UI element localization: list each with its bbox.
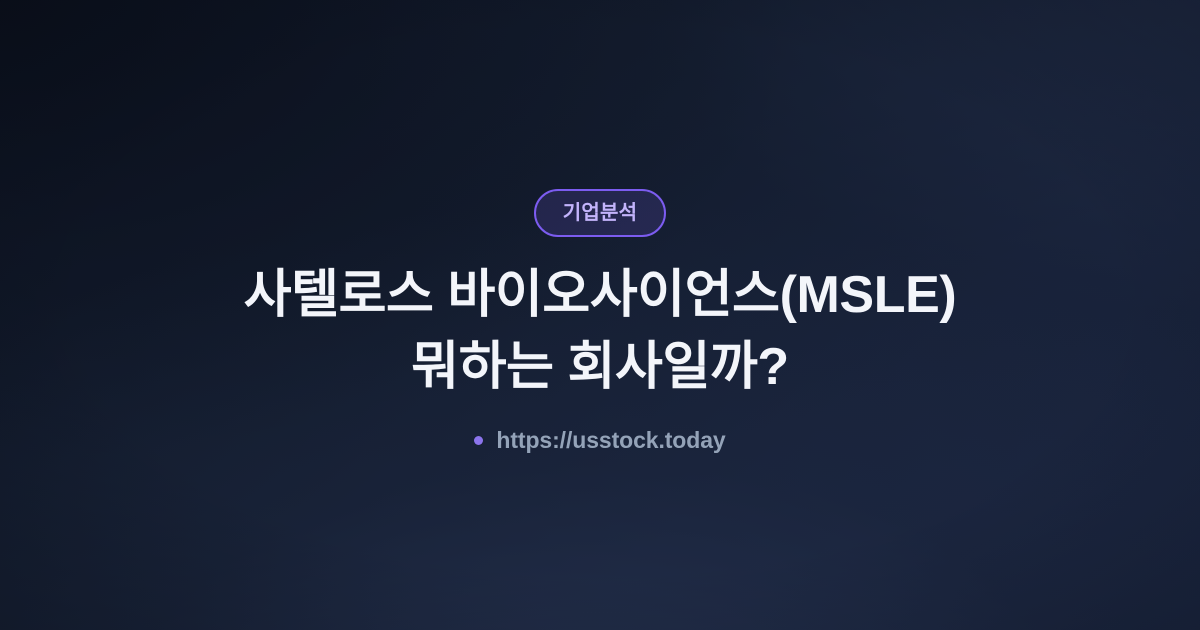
card-content: 기업분석 사텔로스 바이오사이언스(MSLE) 뭐하는 회사일까? https:… bbox=[0, 0, 1200, 452]
category-badge-label: 기업분석 bbox=[563, 203, 637, 223]
bullet-dot-icon bbox=[474, 436, 483, 445]
page-title-line-1: 사텔로스 바이오사이언스(MSLE) bbox=[80, 259, 1120, 331]
site-url: https://usstock.today bbox=[496, 429, 725, 452]
page-title: 사텔로스 바이오사이언스(MSLE) 뭐하는 회사일까? bbox=[80, 259, 1120, 403]
og-share-card: 기업분석 사텔로스 바이오사이언스(MSLE) 뭐하는 회사일까? https:… bbox=[0, 0, 1200, 630]
page-title-line-2: 뭐하는 회사일까? bbox=[80, 331, 1120, 403]
site-footer: https://usstock.today bbox=[474, 429, 725, 452]
category-badge: 기업분석 bbox=[534, 189, 666, 237]
